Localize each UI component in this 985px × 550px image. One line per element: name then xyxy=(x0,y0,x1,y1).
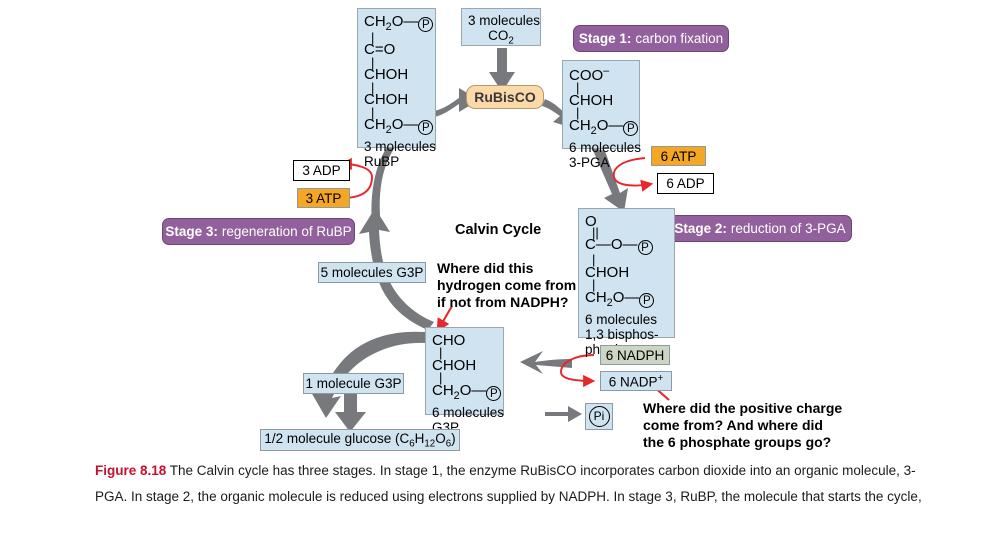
arrow-bpg-to-g3p xyxy=(520,351,572,374)
stage-3-name: Stage 3: xyxy=(165,224,218,239)
enzyme-rubisco-label: RuBisCO xyxy=(474,89,535,105)
bpg-l3-rest: O— xyxy=(613,289,640,306)
pga-caption-l1: 6 molecules xyxy=(569,140,633,155)
stage-badge-3: Stage 3: regeneration of RuBP xyxy=(162,218,355,245)
figure-caption-text: The Calvin cycle has three stages. In st… xyxy=(95,463,922,504)
pga-l1-sup: – xyxy=(603,65,609,77)
molecule-panel-co2: 3 molecules CO2 xyxy=(461,8,541,46)
rubp-caption-l2: RuBP xyxy=(364,154,429,169)
label-pi-box: Pi xyxy=(585,403,613,430)
bpg-caption-l1: 6 molecules xyxy=(585,312,668,327)
phosphate-circle-icon: P xyxy=(418,17,433,32)
bpg-l1: C—O— xyxy=(585,236,638,253)
arrow-1g3p-to-glucose xyxy=(335,388,366,432)
phosphate-circle-icon: P xyxy=(638,240,653,255)
glucose-mid2: O xyxy=(435,431,446,446)
bpg-caption-l2: 1,3 bisphos- xyxy=(585,327,668,342)
nadp-plus-base: 6 NADP xyxy=(609,374,658,389)
pga-caption: 6 molecules 3-PGA xyxy=(569,140,633,170)
pga-structure: COO– | CHOH | CH2O—P xyxy=(569,66,633,137)
co2-caption: 3 molecules CO2 xyxy=(468,13,534,48)
figure-caption: Figure 8.18 The Calvin cycle has three s… xyxy=(95,458,925,511)
co2-caption-l2: CO xyxy=(488,28,508,43)
annotation-hydrogen-l2: hydrogen come from xyxy=(437,277,612,294)
phosphate-circle-icon: P xyxy=(418,120,433,135)
nadp-plus-sup: + xyxy=(658,373,664,384)
stage-badge-2: Stage 2: reduction of 3-PGA xyxy=(668,215,852,242)
phosphate-circle-icon: P xyxy=(639,293,654,308)
annotation-hydrogen-l3: if not from NADPH? xyxy=(437,294,612,311)
g3p-l3-text: CH xyxy=(432,382,454,399)
figure-canvas: CH2O—P | C=O | CHOH | CHOH | CH2O—P 3 mo… xyxy=(0,0,985,550)
stage-3-desc: regeneration of RuBP xyxy=(222,224,352,239)
label-3-adp: 3 ADP xyxy=(293,160,350,181)
annotation-hydrogen-l1: Where did this xyxy=(437,260,612,277)
glucose-mid1: H xyxy=(415,431,425,446)
pga-caption-l2: 3-PGA xyxy=(569,155,633,170)
stage-1-desc: carbon fixation xyxy=(635,31,723,46)
red-arrow-nadph-to-nadp xyxy=(561,355,594,381)
rubp-l1-text: CH xyxy=(364,13,386,30)
phosphate-circle-icon: P xyxy=(623,121,638,136)
g3p-l3-rest: O— xyxy=(460,382,487,399)
co2-caption-l1: 3 molecules xyxy=(468,13,534,28)
label-half-molecule-glucose: 1/2 molecule glucose (C6H12O6) xyxy=(260,429,460,451)
stage-badge-1: Stage 1: carbon fixation xyxy=(573,25,729,52)
phosphate-circle-icon: P xyxy=(486,386,501,401)
label-6-adp-text: 6 ADP xyxy=(666,176,704,191)
enzyme-rubisco-pill[interactable]: RuBisCO xyxy=(466,85,544,109)
pga-l3-text: CH xyxy=(569,117,591,134)
pga-l3-rest: O— xyxy=(597,117,624,134)
annotation-positive-charge: Where did the positive charge come from?… xyxy=(643,400,893,451)
pga-l1: COO xyxy=(569,67,603,84)
label-6-adp: 6 ADP xyxy=(657,173,714,194)
glucose-sub2: 12 xyxy=(424,438,435,449)
annotation-positive-charge-l2: come from? And where did xyxy=(643,417,893,434)
arrow-g3p-to-pi xyxy=(545,406,582,422)
molecule-panel-g3p: CHO | CHOH | CH2O—P 6 molecules G3P xyxy=(425,327,504,415)
stage-2-desc: reduction of 3-PGA xyxy=(731,221,846,236)
label-5-molecules-g3p: 5 molecules G3P xyxy=(318,262,426,283)
label-6-atp-text: 6 ATP xyxy=(661,149,697,164)
rubp-l5-text: CH xyxy=(364,116,386,133)
cycle-title-text: Calvin Cycle xyxy=(455,222,541,238)
annotation-positive-charge-l3: the 6 phosphate groups go? xyxy=(643,434,893,451)
label-1-molecule-g3p-text: 1 molecule G3P xyxy=(305,376,401,391)
figure-number: Figure 8.18 xyxy=(95,463,166,478)
glucose-post: ) xyxy=(451,431,456,446)
annotation-hydrogen-question: Where did this hydrogen come from if not… xyxy=(437,260,612,311)
label-6-nadph: 6 NADPH xyxy=(600,345,670,365)
molecule-panel-rubp: CH2O—P | C=O | CHOH | CHOH | CH2O—P 3 mo… xyxy=(357,8,436,148)
label-3-adp-text: 3 ADP xyxy=(302,163,340,178)
label-6-nadp-plus-text: 6 NADP+ xyxy=(609,373,663,390)
pi-circle-icon: Pi xyxy=(589,406,610,427)
label-3-atp-text: 3 ATP xyxy=(306,191,342,206)
label-5-molecules-g3p-text: 5 molecules G3P xyxy=(321,265,424,280)
rubp-l1-rest: O— xyxy=(392,13,419,30)
annotation-positive-charge-l1: Where did the positive charge xyxy=(643,400,893,417)
molecule-panel-3pga: COO– | CHOH | CH2O—P 6 molecules 3-PGA xyxy=(562,60,640,149)
g3p-structure: CHO | CHOH | CH2O—P xyxy=(432,333,497,402)
cycle-title: Calvin Cycle xyxy=(455,222,541,238)
label-6-atp: 6 ATP xyxy=(651,146,706,166)
rubp-caption: 3 molecules RuBP xyxy=(364,139,429,169)
g3p-caption-l1: 6 molecules xyxy=(432,405,497,420)
rubp-structure: CH2O—P | C=O | CHOH | CHOH | CH2O—P xyxy=(364,14,429,136)
label-1-molecule-g3p: 1 molecule G3P xyxy=(303,373,404,394)
stage-2-name: Stage 2: xyxy=(674,221,727,236)
rubp-caption-l1: 3 molecules xyxy=(364,139,429,154)
label-6-nadp-plus: 6 NADP+ xyxy=(600,371,672,391)
label-3-atp: 3 ATP xyxy=(297,188,350,208)
label-6-nadph-text: 6 NADPH xyxy=(606,348,665,363)
stage-1-name: Stage 1: xyxy=(579,31,632,46)
co2-caption-l2-sub: 2 xyxy=(508,36,513,47)
label-glucose-text: 1/2 molecule glucose (C6H12O6) xyxy=(264,431,455,450)
glucose-pre: 1/2 molecule glucose (C xyxy=(264,431,409,446)
rubp-l5-rest: O— xyxy=(392,116,419,133)
